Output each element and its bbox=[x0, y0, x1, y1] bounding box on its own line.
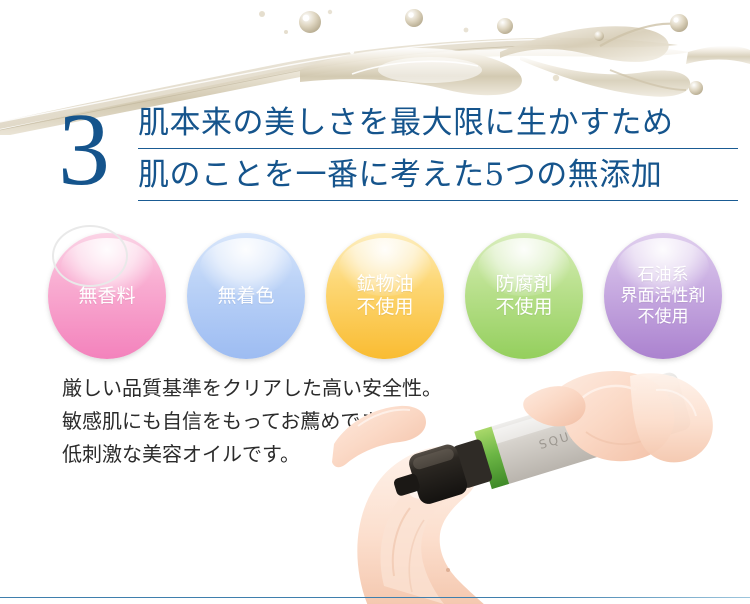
body-copy: 厳しい品質基準をクリアした高い安全性。 敏感肌にも自信をもってお薦めできる 低刺… bbox=[62, 372, 482, 471]
badge-petroleum-surfactant-free: 石油系 界面活性剤 不使用 bbox=[604, 233, 722, 359]
body-line-3: 低刺激な美容オイルです。 bbox=[62, 438, 482, 471]
badge-fragrance-free: 無香料 bbox=[48, 233, 166, 359]
badge-label: 無香料 bbox=[78, 285, 135, 308]
badge-label: 無着色 bbox=[217, 285, 274, 308]
headline-lines: 肌本来の美しさを最大限に生かすため 肌のことを一番に考えた5つの無添加 bbox=[138, 108, 738, 201]
bottom-divider bbox=[0, 597, 750, 599]
promo-page: 3 肌本来の美しさを最大限に生かすため 肌のことを一番に考えた5つの無添加 無香… bbox=[0, 0, 750, 604]
badge-mineral-oil-free: 鉱物油 不使用 bbox=[326, 233, 444, 359]
body-line-1: 厳しい品質基準をクリアした高い安全性。 bbox=[62, 372, 482, 405]
badge-label: 防腐剤 不使用 bbox=[495, 273, 552, 319]
badge-label: 鉱物油 不使用 bbox=[356, 273, 413, 319]
no-additive-badge-group: 無香料 無着色 鉱物油 不使用 防腐剤 不使用 石油系 界面活性剤 不使用 bbox=[48, 233, 738, 361]
headline-block: 3 肌本来の美しさを最大限に生かすため 肌のことを一番に考えた5つの無添加 bbox=[0, 104, 750, 216]
headline-line-2: 肌のことを一番に考えた5つの無添加 bbox=[138, 160, 738, 201]
svg-text:SQUALANE: SQUALANE bbox=[537, 414, 621, 452]
section-number: 3 bbox=[58, 98, 110, 202]
body-line-2: 敏感肌にも自信をもってお薦めできる bbox=[62, 405, 482, 438]
badge-preservative-free: 防腐剤 不使用 bbox=[465, 233, 583, 359]
headline-line-1: 肌本来の美しさを最大限に生かすため bbox=[138, 108, 738, 149]
badge-label: 石油系 界面活性剤 不使用 bbox=[621, 265, 706, 328]
badge-colorant-free: 無着色 bbox=[187, 233, 305, 359]
